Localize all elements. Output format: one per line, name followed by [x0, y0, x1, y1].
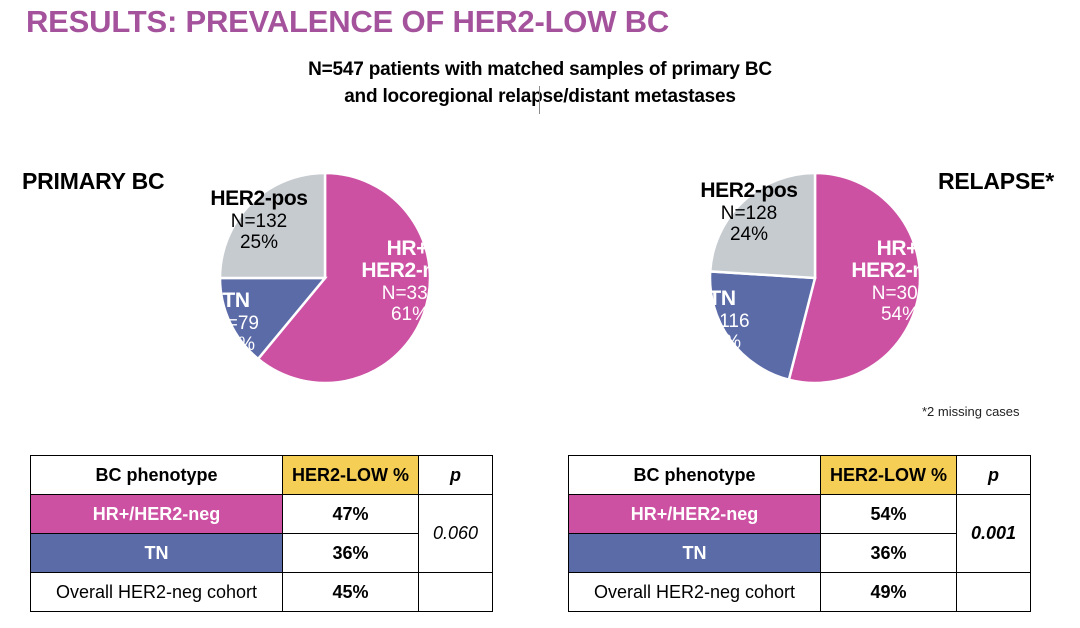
table-header-row: BC phenotype HER2-LOW % p: [31, 456, 493, 495]
header-bc-phenotype: BC phenotype: [31, 456, 283, 495]
cell-p-value: 0.001: [957, 495, 1031, 573]
results-table-primary-bc: BC phenotype HER2-LOW % p HR+/HER2-neg 4…: [30, 455, 493, 612]
page-title: RESULTS: PREVALENCE OF HER2-LOW BC: [26, 4, 669, 40]
slide-subtitle: N=547 patients with matched samples of p…: [0, 56, 1080, 110]
cell-phenotype: Overall HER2-neg cohort: [569, 573, 821, 612]
header-bc-phenotype: BC phenotype: [569, 456, 821, 495]
pie-chart-primary-bc-svg: [218, 171, 432, 385]
cell-phenotype: Overall HER2-neg cohort: [31, 573, 283, 612]
table-header-row: BC phenotype HER2-LOW % p: [569, 456, 1031, 495]
cell-p-value-empty: [419, 573, 493, 612]
pie-slice-her2-pos: [220, 173, 325, 278]
text-cursor-artifact: [539, 86, 540, 114]
pie-slice-her2-pos: [710, 173, 815, 278]
chart-caption-relapse: RELAPSE*: [938, 168, 1054, 195]
pie-chart-relapse-svg: [708, 171, 922, 385]
header-p-value: p: [957, 456, 1031, 495]
cell-her2-low-pct: 45%: [283, 573, 419, 612]
subtitle-line-2: and locoregional relapse/distant metasta…: [0, 83, 1080, 110]
table-row: Overall HER2-neg cohort 45%: [31, 573, 493, 612]
pie-chart-relapse: [708, 171, 922, 385]
cell-her2-low-pct: 36%: [821, 534, 957, 573]
cell-her2-low-pct: 54%: [821, 495, 957, 534]
pie-chart-primary-bc: [218, 171, 432, 385]
table-row: HR+/HER2-neg 47% 0.060: [31, 495, 493, 534]
table-row: HR+/HER2-neg 54% 0.001: [569, 495, 1031, 534]
cell-phenotype: HR+/HER2-neg: [31, 495, 283, 534]
subtitle-line-1: N=547 patients with matched samples of p…: [0, 56, 1080, 83]
chart-caption-primary-bc: PRIMARY BC: [22, 168, 164, 195]
results-table-relapse: BC phenotype HER2-LOW % p HR+/HER2-neg 5…: [568, 455, 1031, 612]
cell-phenotype: TN: [569, 534, 821, 573]
cell-her2-low-pct: 47%: [283, 495, 419, 534]
cell-p-value: 0.060: [419, 495, 493, 573]
footnote-missing-cases: *2 missing cases: [922, 404, 1020, 419]
cell-phenotype: TN: [31, 534, 283, 573]
header-her2-low-pct: HER2-LOW %: [821, 456, 957, 495]
header-her2-low-pct: HER2-LOW %: [283, 456, 419, 495]
cell-p-value-empty: [957, 573, 1031, 612]
header-p-value: p: [419, 456, 493, 495]
cell-her2-low-pct: 49%: [821, 573, 957, 612]
cell-phenotype: HR+/HER2-neg: [569, 495, 821, 534]
cell-her2-low-pct: 36%: [283, 534, 419, 573]
table-row: Overall HER2-neg cohort 49%: [569, 573, 1031, 612]
